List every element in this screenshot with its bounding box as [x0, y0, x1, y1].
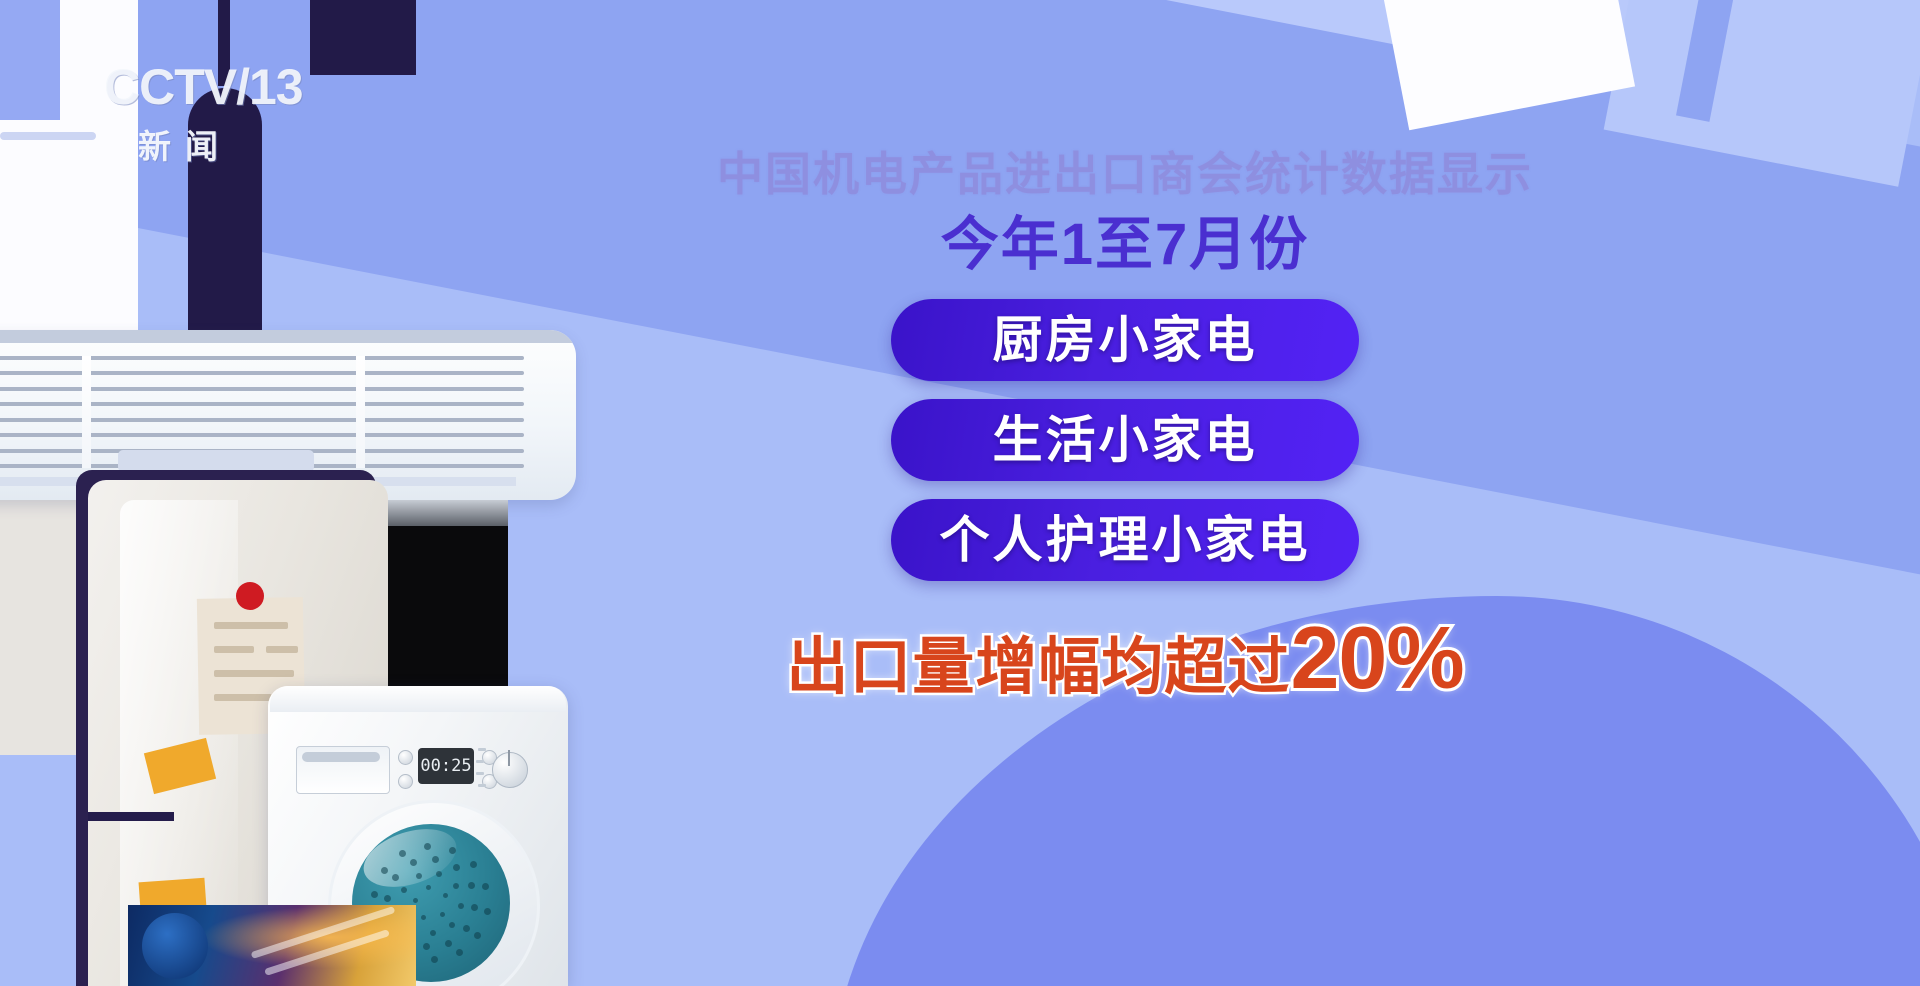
category-pill-label: 个人护理小家电	[940, 515, 1311, 565]
background-left-slab	[0, 0, 60, 120]
channel-logo-subtitle: 新闻	[138, 120, 354, 168]
globe-icon	[142, 913, 208, 979]
category-pill-label: 生活小家电	[993, 415, 1258, 465]
export-growth-value: 20%	[1290, 607, 1463, 709]
washing-machine-drum-hole	[470, 861, 477, 868]
broadcast-graphic-stage: 00:25 CCTV/13 新闻 中国机电产品进出口商会统计数据显示 今年1至7…	[0, 0, 1920, 986]
air-conditioner-seam-left	[82, 356, 91, 468]
washing-machine-drum-hole	[371, 891, 378, 898]
export-growth-statistic: 出口量增幅均超过 20%	[520, 607, 1730, 709]
refrigerator-note-line	[214, 694, 272, 701]
air-conditioner-louver-slat	[0, 402, 524, 406]
category-pill-list: 厨房小家电 生活小家电 个人护理小家电	[520, 299, 1730, 581]
infographic-text-block: 中国机电产品进出口商会统计数据显示 今年1至7月份 厨房小家电 生活小家电 个人…	[520, 148, 1730, 709]
category-pill-personal-care[interactable]: 个人护理小家电	[891, 499, 1359, 581]
air-conditioner-top-edge	[0, 330, 576, 343]
washing-machine-drum-hole	[440, 912, 445, 917]
washing-machine-drum-hole	[381, 867, 388, 874]
channel-logo-text: CCTV/13	[104, 62, 354, 112]
washing-machine-tick	[478, 784, 486, 787]
washing-machine-drum-hole	[384, 895, 391, 902]
refrigerator-note-line	[214, 646, 254, 653]
washing-machine-drum-hole	[426, 885, 431, 890]
washing-machine-tick	[478, 748, 486, 751]
washing-machine-drum-hole	[456, 949, 463, 956]
air-conditioner-louver-slat	[0, 433, 524, 437]
washing-machine-drum-hole	[401, 887, 407, 893]
air-conditioner-vent-tab	[118, 450, 314, 472]
air-conditioner-louver-slat	[0, 418, 524, 422]
air-conditioner-seam-right	[356, 356, 365, 468]
washing-machine-drum-hole	[416, 873, 422, 879]
category-pill-household[interactable]: 生活小家电	[891, 399, 1359, 481]
washing-machine-drum-hole	[413, 898, 418, 903]
refrigerator-note-line	[214, 622, 288, 629]
washing-machine-drum-hole	[458, 903, 464, 909]
washing-machine-display-value: 00:25	[420, 756, 471, 776]
news-light-streak	[264, 929, 390, 976]
washing-machine-tick	[476, 772, 484, 775]
washing-machine-button[interactable]	[398, 774, 413, 789]
washing-machine-display: 00:25	[418, 748, 474, 784]
background-dash-mark	[0, 132, 96, 140]
washing-machine-program-knob[interactable]	[492, 752, 528, 788]
washing-machine-drum-hole	[392, 874, 399, 881]
export-growth-label: 出口量增幅均超过	[786, 616, 1290, 706]
category-pill-label: 厨房小家电	[993, 315, 1258, 365]
washing-machine-drum-hole	[432, 856, 439, 863]
air-conditioner-louver-slat	[0, 387, 524, 391]
washing-machine-drum-hole	[424, 843, 431, 850]
washing-machine-drum-hole	[453, 883, 459, 889]
washing-machine-knob-marker	[508, 750, 510, 766]
air-conditioner-louver-slat	[0, 371, 524, 375]
washing-machine-tick	[476, 760, 484, 763]
category-pill-kitchen[interactable]: 厨房小家电	[891, 299, 1359, 381]
news-thumbnail	[128, 905, 416, 986]
refrigerator-note-line	[266, 646, 298, 653]
refrigerator-magnet-icon	[236, 582, 264, 610]
refrigerator-handle	[88, 812, 174, 821]
washing-machine-drum-hole	[430, 930, 436, 936]
washing-machine-drum-hole	[421, 915, 426, 920]
channel-logo: CCTV/13 新闻	[104, 62, 354, 172]
headline-period: 今年1至7月份	[520, 213, 1730, 277]
washing-machine-drum-hole	[410, 859, 417, 866]
washing-machine-drum-hole	[468, 882, 475, 889]
washing-machine-drum-hole	[449, 847, 456, 854]
headline-source: 中国机电产品进出口商会统计数据显示	[520, 148, 1730, 201]
washing-machine-drawer-slot	[302, 752, 380, 762]
washing-machine-drum-hole	[449, 922, 455, 928]
refrigerator-note-line	[214, 670, 294, 677]
washing-machine-button[interactable]	[398, 750, 413, 765]
air-conditioner-louver-slat	[0, 356, 524, 360]
